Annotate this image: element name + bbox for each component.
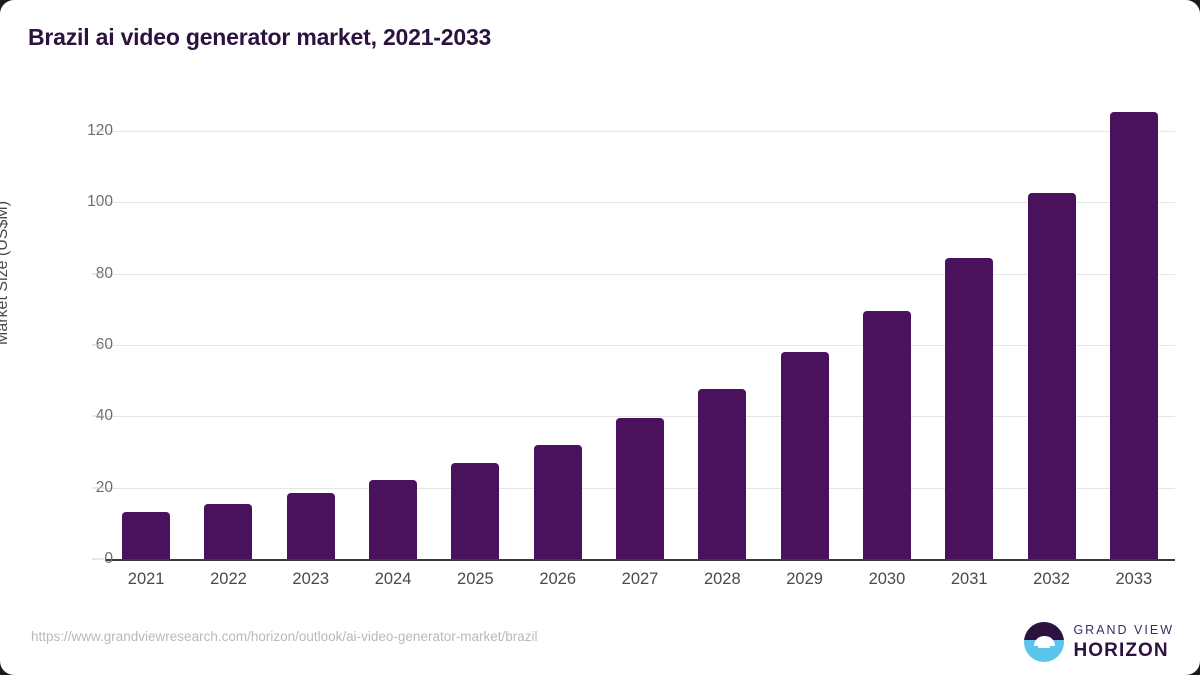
y-axis-label: Market Size (US$M) xyxy=(0,201,12,345)
page-title: Brazil ai video generator market, 2021-2… xyxy=(28,24,491,51)
logo-text-horizon: HORIZON xyxy=(1073,641,1174,660)
bar-2027[interactable] xyxy=(616,418,664,559)
bar-2023[interactable] xyxy=(287,493,335,559)
horizon-sunrise-icon xyxy=(1024,622,1064,662)
y-axis-tick-mark xyxy=(92,131,104,132)
bar-2030[interactable] xyxy=(863,311,911,559)
bar-2025[interactable] xyxy=(451,463,499,559)
logo-ray-line-2 xyxy=(1038,646,1050,649)
gridline xyxy=(105,345,1175,346)
x-axis-tick-label-2028: 2028 xyxy=(704,570,741,589)
bar-2024[interactable] xyxy=(369,480,417,559)
chart-card: Brazil ai video generator market, 2021-2… xyxy=(0,0,1200,675)
gridline xyxy=(105,202,1175,203)
bar-2033[interactable] xyxy=(1110,112,1158,559)
y-axis-tick-mark xyxy=(92,202,104,203)
x-axis-tick-label-2027: 2027 xyxy=(622,570,659,589)
grand-view-horizon-logo: GRAND VIEW HORIZON xyxy=(1024,620,1174,664)
x-axis-line xyxy=(105,559,1175,561)
x-axis-tick-label-2032: 2032 xyxy=(1033,570,1070,589)
x-axis-tick-label-2021: 2021 xyxy=(128,570,165,589)
y-axis-tick-mark xyxy=(92,487,104,488)
x-axis-tick-label-2030: 2030 xyxy=(869,570,906,589)
gridline xyxy=(105,274,1175,275)
bar-2026[interactable] xyxy=(534,445,582,559)
bar-2028[interactable] xyxy=(698,389,746,559)
x-axis-tick-label-2029: 2029 xyxy=(786,570,823,589)
bar-2031[interactable] xyxy=(945,258,993,559)
plot-area xyxy=(105,131,1175,559)
y-axis-tick-mark xyxy=(92,345,104,346)
x-axis-tick-label-2033: 2033 xyxy=(1115,570,1152,589)
bar-2032[interactable] xyxy=(1028,193,1076,559)
bar-2029[interactable] xyxy=(781,352,829,559)
x-axis-tick-label-2022: 2022 xyxy=(210,570,247,589)
x-axis-tick-label-2025: 2025 xyxy=(457,570,494,589)
x-axis-tick-label-2026: 2026 xyxy=(539,570,576,589)
x-axis-tick-label-2023: 2023 xyxy=(292,570,329,589)
y-axis-tick-mark xyxy=(92,559,104,560)
y-axis-tick-mark xyxy=(92,416,104,417)
source-url[interactable]: https://www.grandviewresearch.com/horizo… xyxy=(31,629,537,644)
gridline xyxy=(105,416,1175,417)
logo-text-grand-view: GRAND VIEW xyxy=(1073,624,1174,637)
y-axis-tick-mark xyxy=(92,273,104,274)
x-axis-tick-label-2031: 2031 xyxy=(951,570,988,589)
bar-2021[interactable] xyxy=(122,512,170,559)
x-axis-tick-label-2024: 2024 xyxy=(375,570,412,589)
gridline xyxy=(105,131,1175,132)
bar-2022[interactable] xyxy=(204,504,252,559)
logo-wordmark: GRAND VIEW HORIZON xyxy=(1073,624,1174,660)
y-axis-tick-label: 0 xyxy=(104,550,113,568)
logo-ray-line-1 xyxy=(1035,642,1054,645)
